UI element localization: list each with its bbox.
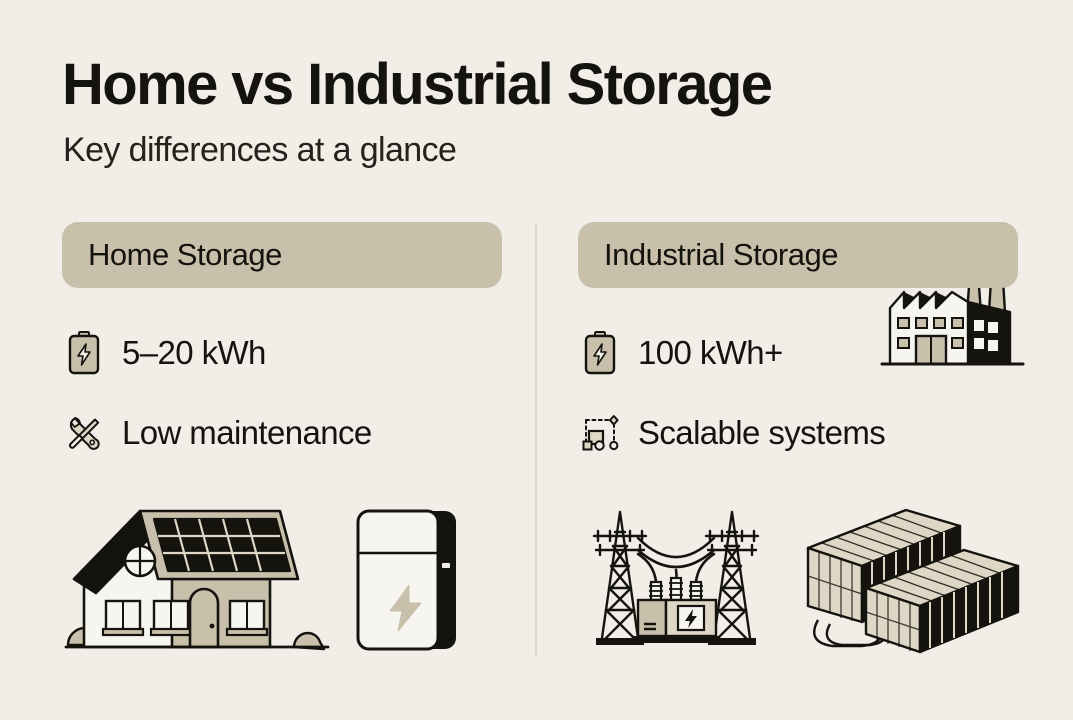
page-subtitle: Key differences at a glance [63, 131, 456, 170]
battery-icon [62, 331, 106, 375]
column-heading-label: Industrial Storage [604, 237, 838, 273]
feature-label: Scalable systems [638, 414, 885, 452]
tools-icon [62, 411, 106, 455]
feature-label: 5–20 kWh [122, 334, 266, 372]
column-heading-pill-industrial: Industrial Storage [578, 222, 1018, 288]
battery-storage-containers-illustration [800, 500, 1025, 658]
feature-row: Low maintenance [62, 404, 502, 462]
infographic-page: Home vs Industrial Storage Key differenc… [0, 0, 1073, 720]
house-with-solar-panels-illustration [62, 495, 334, 660]
scalable-icon [578, 411, 622, 455]
page-title: Home vs Industrial Storage [62, 55, 771, 116]
home-battery-unit-illustration [352, 505, 462, 655]
column-heading-pill-home: Home Storage [62, 222, 502, 288]
feature-list-home: 5–20 kWh Low maintenance [62, 324, 502, 462]
feature-row: 5–20 kWh [62, 324, 502, 382]
power-grid-substation-illustration [580, 498, 770, 658]
feature-row: Scalable systems [578, 404, 1018, 462]
column-heading-label: Home Storage [88, 237, 282, 273]
column-divider [535, 224, 537, 656]
feature-label: Low maintenance [122, 414, 372, 452]
feature-label: 100 kWh+ [638, 334, 783, 372]
battery-icon [578, 331, 622, 375]
column-home: Home Storage 5–20 kWh [62, 222, 502, 462]
